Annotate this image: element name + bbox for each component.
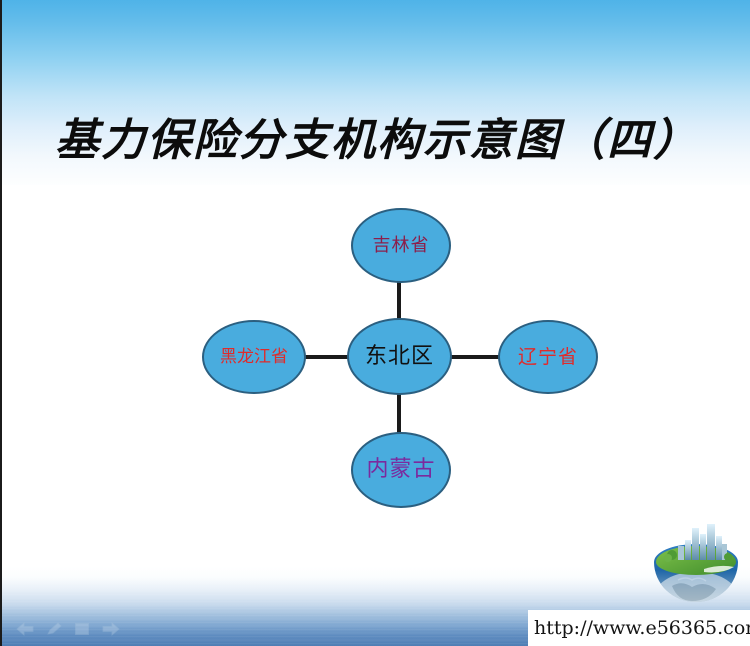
node-jilin[interactable]: 吉林省: [351, 208, 451, 283]
node-heilongjiang-label: 黑龙江省: [220, 349, 288, 366]
globe-city-logo: [648, 522, 744, 610]
node-dongbei-region-label: 东北区: [365, 346, 434, 368]
arrow-right-icon[interactable]: [102, 622, 120, 636]
connector-center-to-right: [446, 355, 502, 359]
node-liaoning[interactable]: 辽宁省: [498, 320, 598, 394]
page-icon[interactable]: [74, 622, 90, 636]
node-dongbei-region[interactable]: 东北区: [347, 318, 452, 395]
connector-center-to-left: [298, 355, 354, 359]
watermark-url-band: http://www.e56365.com: [528, 610, 750, 646]
arrow-left-icon[interactable]: [16, 622, 34, 636]
presentation-slide: 基力保险分支机构示意图（四） 吉林省 黑龙江省 东北区 辽宁省 内蒙古: [0, 0, 750, 646]
pen-icon[interactable]: [46, 622, 62, 636]
node-liaoning-label: 辽宁省: [518, 348, 578, 367]
node-heilongjiang[interactable]: 黑龙江省: [202, 320, 306, 394]
node-neimenggu-label: 内蒙古: [366, 459, 435, 481]
org-chart-diagram: 吉林省 黑龙江省 东北区 辽宁省 内蒙古: [2, 0, 750, 646]
node-jilin-label: 吉林省: [373, 237, 430, 255]
slideshow-nav-controls[interactable]: [16, 622, 120, 636]
connector-center-to-bottom: [397, 390, 401, 436]
watermark-url[interactable]: http://www.e56365.com: [534, 617, 750, 639]
node-neimenggu[interactable]: 内蒙古: [351, 432, 451, 508]
